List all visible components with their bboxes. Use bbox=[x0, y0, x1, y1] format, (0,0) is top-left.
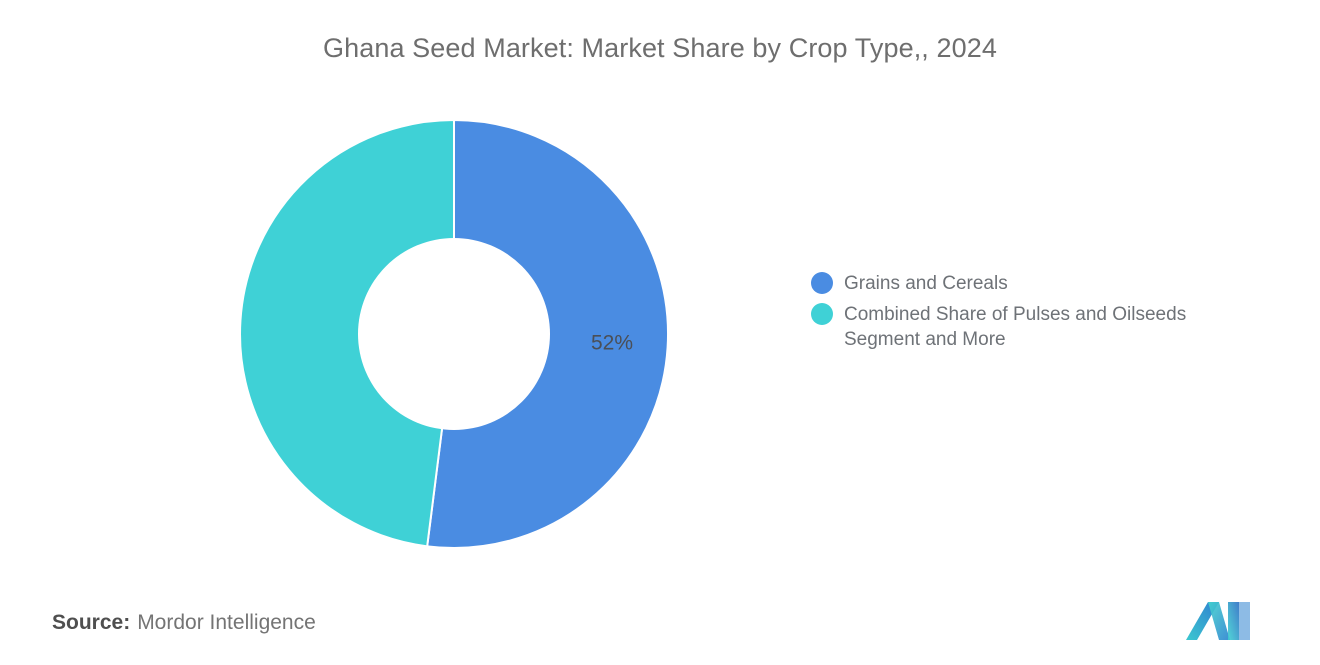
legend-item-label: Grains and Cereals bbox=[844, 271, 1008, 296]
donut-label-group: 52% bbox=[591, 331, 633, 354]
mordor-intelligence-logo-icon bbox=[1186, 598, 1252, 640]
source-value: Mordor Intelligence bbox=[137, 611, 316, 634]
donut-center-hole bbox=[358, 238, 550, 430]
legend-item-grains-and-cereals[interactable]: Grains and Cereals bbox=[811, 271, 1281, 296]
logo-svg bbox=[1186, 598, 1252, 640]
source-label: Source: bbox=[52, 611, 130, 634]
legend-swatch-icon bbox=[811, 272, 833, 294]
legend-item-combined-share-pulses-oilseeds[interactable]: Combined Share of Pulses and Oilseeds Se… bbox=[811, 302, 1281, 352]
chart-legend: Grains and Cereals Combined Share of Pul… bbox=[811, 271, 1281, 358]
chart-figure: Ghana Seed Market: Market Share by Crop … bbox=[0, 0, 1320, 665]
donut-chart: 52% bbox=[240, 120, 668, 548]
donut-chart-svg: 52% bbox=[240, 120, 668, 548]
chart-title: Ghana Seed Market: Market Share by Crop … bbox=[0, 30, 1320, 66]
legend-item-label: Combined Share of Pulses and Oilseeds Se… bbox=[844, 302, 1254, 352]
legend-swatch-icon bbox=[811, 303, 833, 325]
source-attribution: Source:Mordor Intelligence bbox=[52, 611, 316, 635]
donut-slice-value-label: 52% bbox=[591, 331, 633, 354]
